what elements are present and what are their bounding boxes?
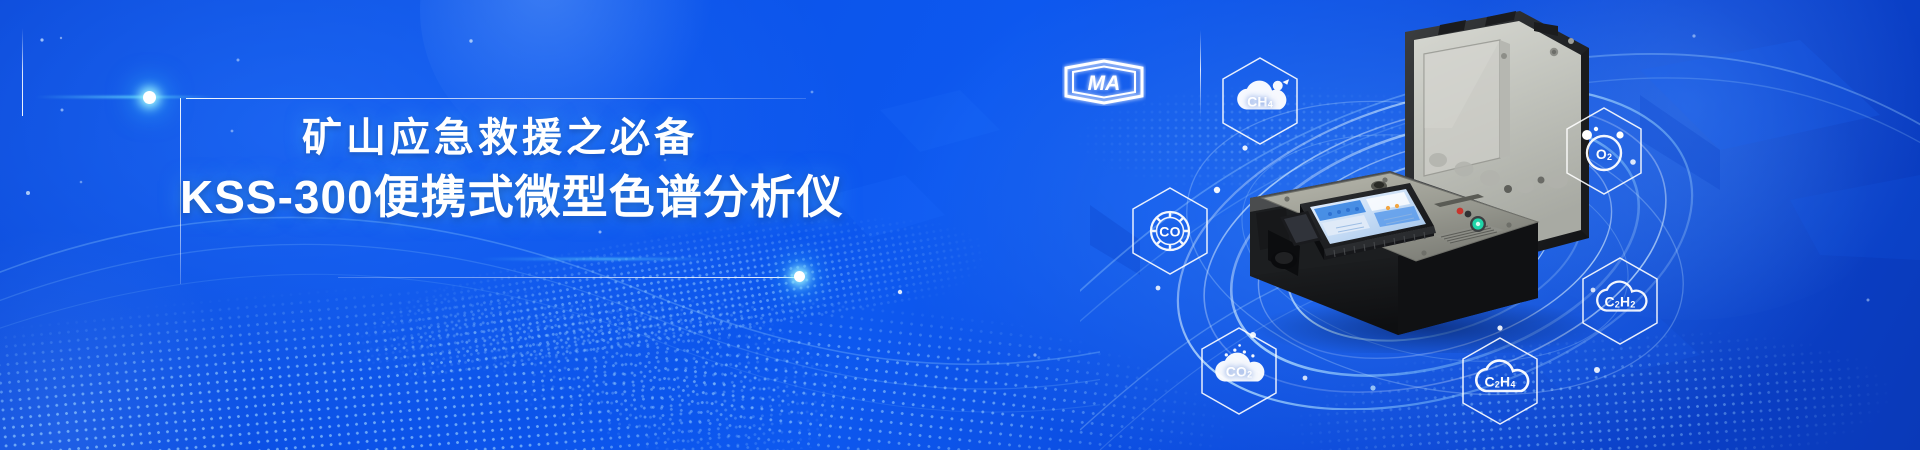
hexagon-outline-icon	[1578, 255, 1662, 347]
promo-banner: 矿山应急救援之必备 KSS-300便携式微型色谱分析仪 MA	[0, 0, 1920, 450]
headline-line-2: KSS-300便携式微型色谱分析仪	[180, 174, 820, 220]
gas-chip-c2h4[interactable]: C2H4	[1458, 335, 1542, 427]
gear-gas-icon	[1151, 212, 1189, 250]
cloud-gas-icon	[1597, 282, 1646, 311]
gas-chip-co[interactable]: CO	[1128, 185, 1212, 277]
cloud-gas-icon	[1237, 79, 1289, 109]
ma-certification-badge: MA	[1062, 58, 1146, 106]
gas-chip-c2h2[interactable]: C2H2	[1578, 255, 1662, 347]
decor-glow-dot-top-left	[143, 91, 156, 104]
decor-glow-dot-bottom-right	[794, 271, 805, 282]
ma-shield-icon: MA	[1062, 58, 1146, 106]
cloud-sparkle-icon	[1215, 344, 1264, 381]
hexagon-outline-icon	[1562, 105, 1646, 197]
cloud-gas-icon	[1476, 361, 1528, 391]
decor-line-bottom	[338, 277, 800, 278]
gas-chip-o2[interactable]: O2	[1562, 105, 1646, 197]
decor-line-left-tick	[22, 28, 23, 116]
hexagon-outline-icon	[1458, 335, 1542, 427]
headline-line-1: 矿山应急救援之必备	[180, 118, 820, 158]
hexagon-outline-icon	[1197, 325, 1281, 417]
decor-line-top	[186, 98, 806, 99]
halftone-wave-pattern	[0, 198, 1048, 450]
background-glow-blob	[0, 215, 270, 450]
hexagon-outline-icon	[1218, 55, 1302, 147]
gas-chip-ch4[interactable]: CH4	[1218, 55, 1302, 147]
decor-light-streak	[480, 258, 710, 260]
headline-group: 矿山应急救援之必备 KSS-300便携式微型色谱分析仪	[180, 118, 820, 220]
decor-light-streak	[35, 96, 215, 98]
gas-chip-co2[interactable]: CO2	[1197, 325, 1281, 417]
decor-vertical-divider	[1200, 30, 1201, 118]
molecule-icon	[1587, 136, 1621, 170]
ma-badge-label: MA	[1088, 72, 1121, 95]
hexagon-outline-icon	[1128, 185, 1212, 277]
